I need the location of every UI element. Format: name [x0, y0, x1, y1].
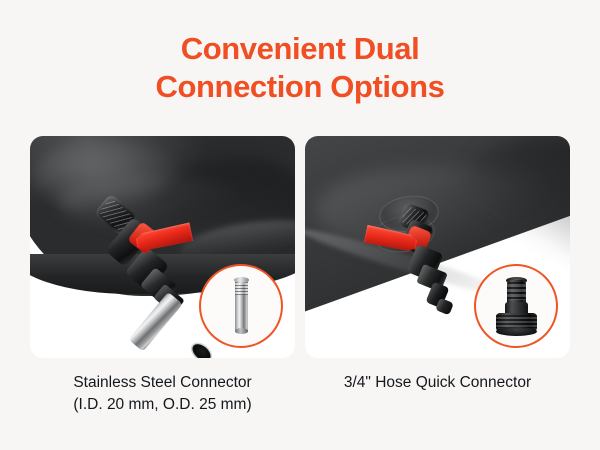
caption-line-2: (I.D. 20 mm, O.D. 25 mm)	[30, 394, 295, 416]
product-card-stainless-steel[interactable]	[30, 136, 295, 358]
page-title-line-2: Connection Options	[0, 68, 600, 106]
inset-circle-hose-quick	[474, 264, 558, 348]
connector-barb-ribs	[507, 282, 526, 300]
steel-tube-top-rim	[234, 277, 249, 283]
captions-row: Stainless Steel Connector (I.D. 20 mm, O…	[30, 372, 570, 432]
inset-circle-stainless-steel	[199, 264, 283, 348]
stainless-steel-spout	[128, 292, 182, 352]
page-title: Convenient Dual Connection Options	[0, 30, 600, 106]
caption-line-1: 3/4" Hose Quick Connector	[305, 372, 570, 394]
stainless-steel-connector-icon	[201, 266, 281, 346]
caption-stainless-steel: Stainless Steel Connector (I.D. 20 mm, O…	[30, 372, 295, 432]
connector-base-lip	[496, 327, 537, 336]
caption-hose-quick: 3/4" Hose Quick Connector	[305, 372, 570, 432]
quick-connector-tip	[435, 298, 454, 316]
caption-line-1: Stainless Steel Connector	[30, 372, 295, 394]
steel-tube-bottom-rim	[235, 328, 248, 334]
page-title-line-1: Convenient Dual	[0, 30, 600, 68]
product-cards-row	[30, 136, 570, 358]
product-card-hose-quick[interactable]	[305, 136, 570, 358]
hose-quick-connector-icon	[476, 266, 556, 346]
